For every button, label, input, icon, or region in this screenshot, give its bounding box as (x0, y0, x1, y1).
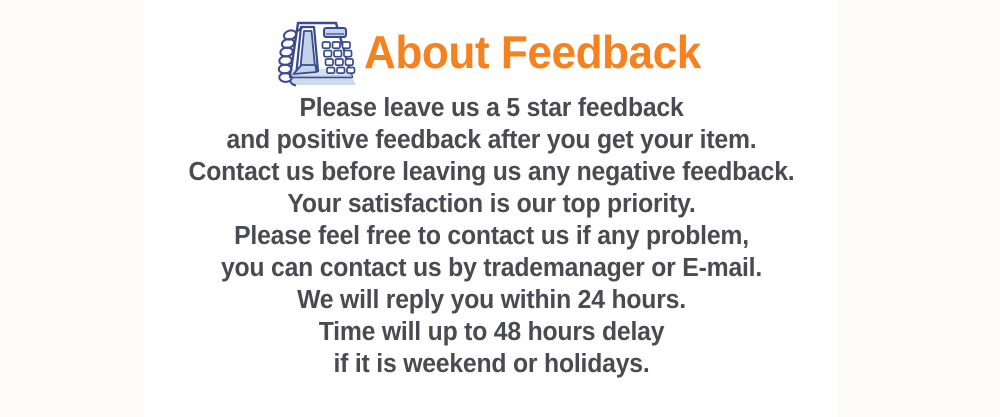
content-panel: About Feedback Please leave us a 5 star … (145, 0, 838, 417)
message-line: you can contact us by trademanager or E-… (155, 252, 827, 284)
message-line: We will reply you within 24 hours. (155, 284, 827, 316)
message-line: and positive feedback after you get your… (155, 124, 827, 156)
message-line: Please feel free to contact us if any pr… (155, 220, 827, 252)
message-line: if it is weekend or holidays. (155, 348, 827, 380)
feedback-banner: About Feedback Please leave us a 5 star … (0, 0, 1000, 417)
message-line: Time will up to 48 hours delay (155, 316, 827, 348)
message-line: Please leave us a 5 star feedback (155, 92, 827, 124)
page-title: About Feedback (364, 29, 701, 77)
feedback-message-block: Please leave us a 5 star feedback and po… (145, 92, 838, 380)
message-line: Your satisfaction is our top priority. (155, 188, 827, 220)
header-row: About Feedback (145, 14, 838, 92)
message-line: Contact us before leaving us any negativ… (155, 156, 827, 188)
fax-machine-icon (268, 15, 360, 91)
